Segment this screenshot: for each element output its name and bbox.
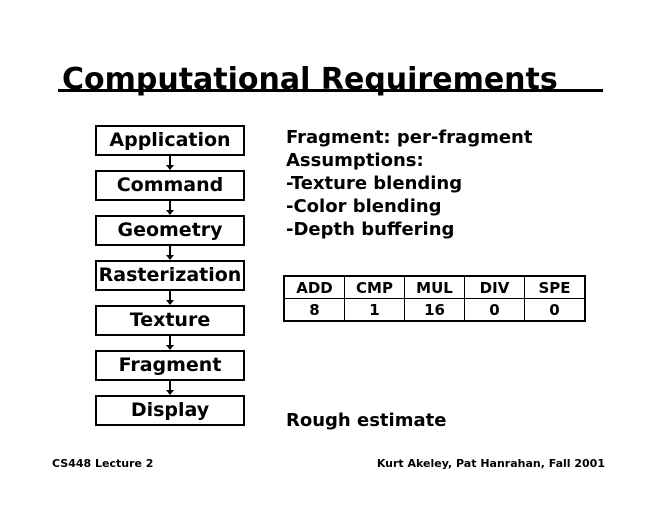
footer-course-label: CS448 Lecture 2 <box>52 457 153 471</box>
pipeline-stage-label: Geometry <box>117 221 222 240</box>
pipeline-stage-texture: Texture <box>95 305 245 336</box>
assumptions-text-block: Fragment: per-fragment Assumptions: -Tex… <box>286 126 532 241</box>
pipeline-stage-label: Rasterization <box>99 266 242 285</box>
notes-line: Fragment: per-fragment <box>286 126 532 149</box>
title-divider <box>58 89 603 92</box>
pipeline-stage-display: Display <box>95 395 245 426</box>
table-caption: Rough estimate <box>286 410 446 432</box>
pipeline-arrow-icon <box>95 381 245 395</box>
pipeline-stage-fragment: Fragment <box>95 350 245 381</box>
pipeline-stage-command: Command <box>95 170 245 201</box>
table-cell: 16 <box>405 299 465 322</box>
pipeline-stage-label: Fragment <box>119 356 222 375</box>
pipeline-stage-label: Display <box>131 401 209 420</box>
pipeline-arrow-icon <box>95 291 245 305</box>
notes-line: -Texture blending <box>286 172 532 195</box>
graphics-pipeline-diagram: Application Command Geometry Rasterizati… <box>95 125 245 426</box>
table-header-cell: CMP <box>345 276 405 299</box>
pipeline-stage-label: Texture <box>130 311 210 330</box>
table-header-cell: SPE <box>525 276 586 299</box>
pipeline-stage-label: Command <box>117 176 224 195</box>
table-header-cell: MUL <box>405 276 465 299</box>
table-cell: 0 <box>525 299 586 322</box>
page-title: Computational Requirements <box>62 62 558 98</box>
pipeline-stage-application: Application <box>95 125 245 156</box>
slide: Computational Requirements Application C… <box>0 0 660 510</box>
table-cell: 8 <box>284 299 345 322</box>
table-cell: 1 <box>345 299 405 322</box>
pipeline-stage-label: Application <box>109 131 230 150</box>
pipeline-arrow-icon <box>95 246 245 260</box>
pipeline-arrow-icon <box>95 156 245 170</box>
pipeline-stage-geometry: Geometry <box>95 215 245 246</box>
footer-authors-label: Kurt Akeley, Pat Hanrahan, Fall 2001 <box>377 457 605 471</box>
pipeline-arrow-icon <box>95 336 245 350</box>
notes-line: Assumptions: <box>286 149 532 172</box>
table-header-cell: DIV <box>465 276 525 299</box>
pipeline-stage-rasterization: Rasterization <box>95 260 245 291</box>
pipeline-arrow-icon <box>95 201 245 215</box>
table-header-row: ADD CMP MUL DIV SPE <box>284 276 585 299</box>
notes-line: -Color blending <box>286 195 532 218</box>
table-cell: 0 <box>465 299 525 322</box>
table-header-cell: ADD <box>284 276 345 299</box>
notes-line: -Depth buffering <box>286 218 532 241</box>
table-row: 8 1 16 0 0 <box>284 299 585 322</box>
operation-count-table: ADD CMP MUL DIV SPE 8 1 16 0 0 <box>283 275 586 322</box>
